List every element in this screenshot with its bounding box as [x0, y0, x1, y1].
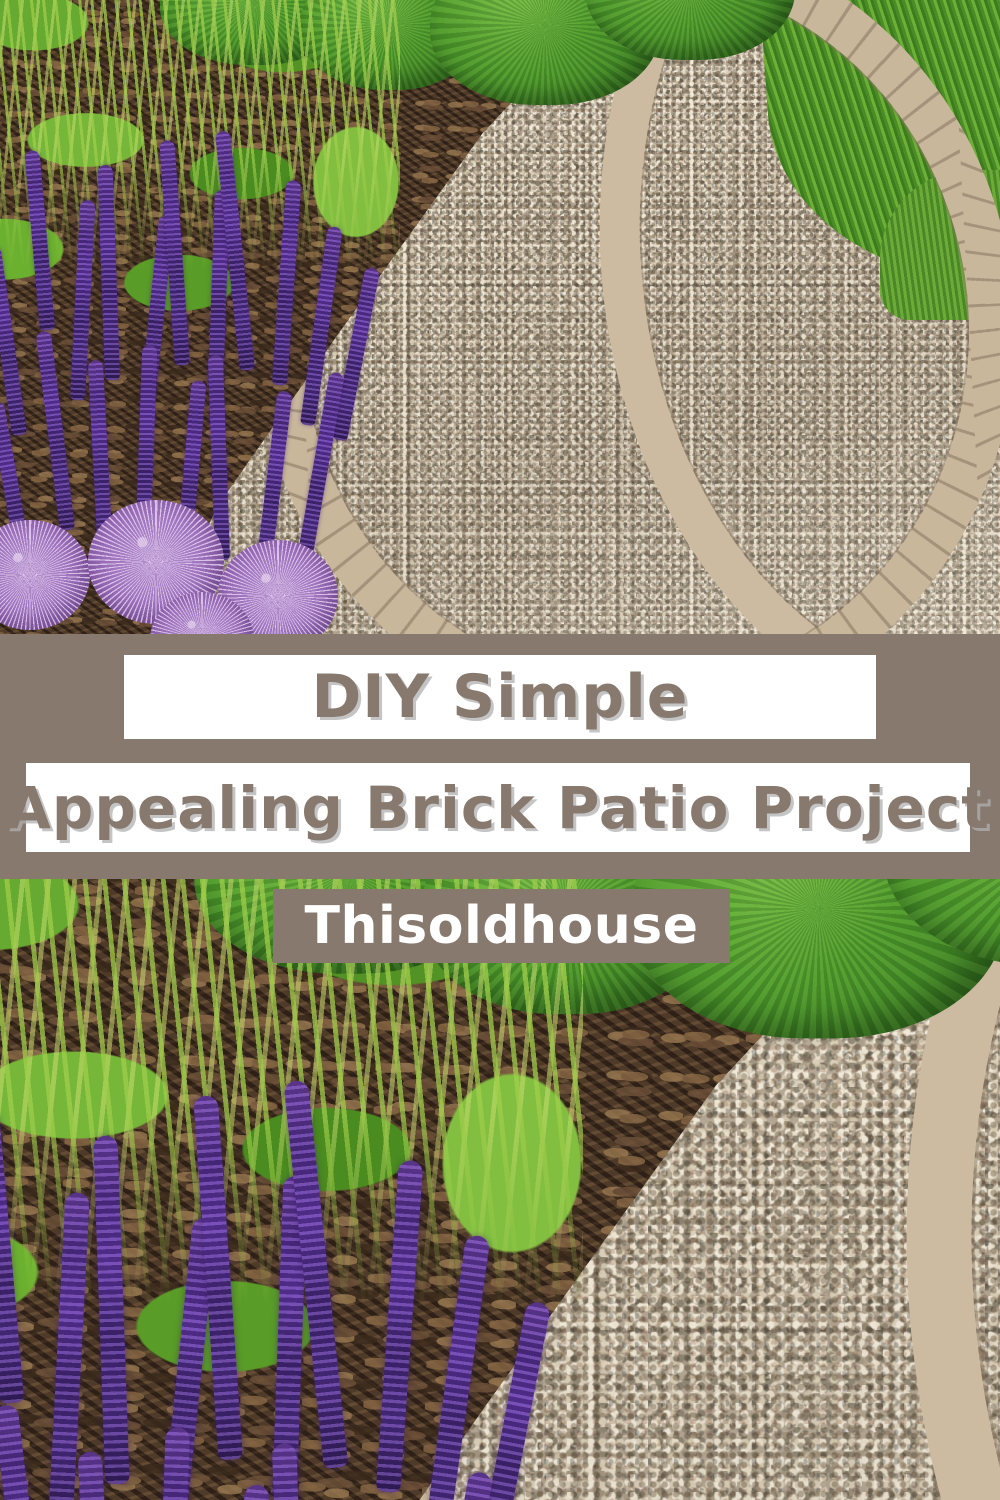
title-line-2: Appealing Brick Patio Project	[6, 779, 990, 837]
title-line-1: DIY Simple	[312, 667, 689, 727]
garden-path-photo-top	[0, 0, 1000, 636]
source-label: Thisoldhouse	[304, 900, 698, 952]
garden-path-photo-bottom	[0, 878, 1000, 1500]
pinterest-pin: DIY Simple Appealing Brick Patio Project	[0, 0, 1000, 1500]
garden-scene-bottom	[0, 878, 1000, 1500]
title-banner: DIY Simple Appealing Brick Patio Project	[0, 634, 1000, 879]
title-box-secondary: Appealing Brick Patio Project	[26, 763, 970, 852]
title-box-primary: DIY Simple	[124, 655, 876, 739]
garden-scene-top	[0, 0, 1000, 636]
source-tag: Thisoldhouse	[273, 889, 730, 963]
grass-blades	[0, 0, 400, 300]
